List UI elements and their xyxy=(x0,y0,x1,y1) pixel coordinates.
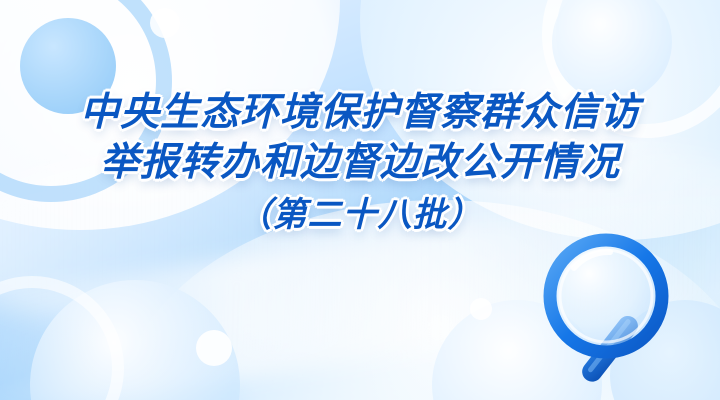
bubble-bottom-left-circle xyxy=(30,280,240,400)
poster-title: 中央生态环境保护督察群众信访 举报转办和边督边改公开情况 （第二十八批） xyxy=(0,88,720,237)
dot-center-circle xyxy=(470,298,492,320)
title-line-2: 举报转办和边督边改公开情况 xyxy=(22,138,698,188)
poster-banner: 中央生态环境保护督察群众信访 举报转办和边督边改公开情况 （第二十八批） xyxy=(0,0,720,400)
magnifier-icon xyxy=(502,224,702,394)
bubble-bottom-right-circle-1 xyxy=(432,300,602,400)
solid-top-right-circle xyxy=(552,0,672,102)
ring-bottom-left-circle xyxy=(0,276,124,400)
dot-top-left-circle xyxy=(150,8,180,38)
bubble-bottom-right-circle-2 xyxy=(610,300,720,400)
title-line-1: 中央生态环境保护督察群众信访 xyxy=(22,88,698,138)
title-line-3: （第二十八批） xyxy=(22,194,698,238)
dot-bottom-left-circle xyxy=(196,330,232,366)
